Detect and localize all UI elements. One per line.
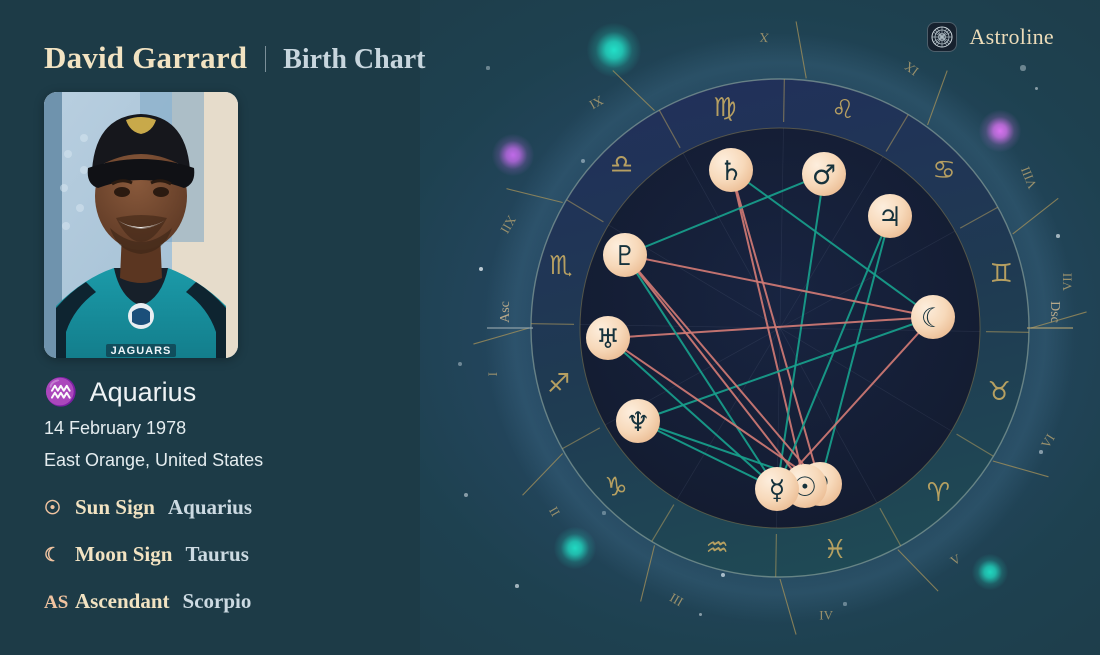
zodiac-glyph-aries: ♈ [927, 478, 950, 508]
sun-icon: ☉ [44, 497, 66, 520]
fact-label-moon: Moon Sign [75, 542, 172, 567]
zodiac-glyph-aquarius: ♒ [705, 533, 728, 563]
planet-glyph-jupiter: ♃ [878, 202, 902, 233]
house-numeral-i: I [486, 372, 501, 376]
zodiac-glyph-pisces: ♓ [824, 535, 847, 565]
fact-label-sun: Sun Sign [75, 495, 155, 520]
fact-value-sun: Aquarius [168, 495, 252, 520]
planet-glyph-mars: ♂ [812, 160, 836, 191]
planet-glyph-moon: ☾ [921, 303, 945, 334]
fact-row-sun-sign: ☉ Sun Sign Aquarius [44, 495, 252, 520]
zodiac-glyph-cancer: ♋ [932, 156, 955, 186]
page-subtitle: Birth Chart [283, 44, 425, 75]
planet-token-neptune[interactable]: ♆ [616, 399, 660, 443]
avatar: JAGUARS [44, 92, 238, 358]
sun-sign-name: Aquarius [90, 377, 197, 408]
axis-label-dsc: Dsc [1047, 301, 1062, 323]
fact-row-ascendant: AS Ascendant Scorpio [44, 589, 251, 614]
planet-token-moon[interactable]: ☾ [911, 295, 955, 339]
axis-label-asc: Asc [498, 301, 513, 323]
svg-text:JAGUARS: JAGUARS [111, 345, 172, 357]
planet-token-jupiter[interactable]: ♃ [868, 194, 912, 238]
zodiac-glyph-sagittarius: ♐ [547, 369, 570, 399]
moon-icon: ☾ [44, 544, 66, 567]
zodiac-glyph-gemini: ♊ [990, 259, 1013, 289]
planet-glyph-pluto: ♇ [613, 241, 637, 272]
birth-date: 14 February 1978 [44, 418, 186, 439]
house-numeral-x: X [758, 30, 770, 46]
fact-row-moon-sign: ☾ Moon Sign Taurus [44, 542, 249, 567]
ascendant-icon: AS [44, 592, 66, 614]
zodiac-glyph-taurus: ♉ [988, 377, 1011, 407]
zodiac-glyph-capricorn: ♑ [604, 472, 627, 502]
planet-token-uranus[interactable]: ♅ [586, 316, 630, 360]
aquarius-glyph-icon: ♒ [44, 379, 78, 406]
person-name: David Garrard [44, 40, 247, 75]
portrait-photo: JAGUARS [44, 92, 238, 358]
fact-value-moon: Taurus [185, 542, 248, 567]
title-divider [265, 46, 266, 72]
fact-value-ascendant: Scorpio [183, 589, 252, 614]
planet-token-mercury[interactable]: ☿ [755, 467, 799, 511]
planet-token-saturn[interactable]: ♄ [709, 148, 753, 192]
profile-panel: David Garrard Birth Chart [0, 0, 430, 655]
planet-token-mars[interactable]: ♂ [802, 152, 846, 196]
birth-chart-wheel[interactable]: ♌♋♊♉♈♓♒♑♐♏♎♍XIXVIIIVIIVIVIVIIIIIIXIIXIAs… [460, 0, 1100, 655]
planet-token-pluto[interactable]: ♇ [603, 233, 647, 277]
zodiac-glyph-libra: ♎ [610, 150, 633, 180]
planet-glyph-saturn: ♄ [719, 156, 743, 187]
house-numeral-vii: VII [1059, 273, 1074, 291]
sun-sign-headline: ♒ Aquarius [44, 377, 196, 408]
birth-place: East Orange, United States [44, 450, 263, 471]
zodiac-glyph-scorpio: ♏ [549, 251, 572, 281]
house-numeral-iv: IV [819, 607, 833, 622]
fact-label-ascendant: Ascendant [75, 589, 170, 614]
page-title: David Garrard Birth Chart [44, 40, 425, 76]
planet-glyph-neptune: ♆ [626, 407, 650, 438]
zodiac-glyph-virgo: ♍ [713, 93, 736, 123]
planet-glyph-uranus: ♅ [596, 324, 620, 355]
planet-glyph-mercury: ☿ [769, 475, 786, 506]
zodiac-glyph-leo: ♌ [831, 95, 854, 125]
